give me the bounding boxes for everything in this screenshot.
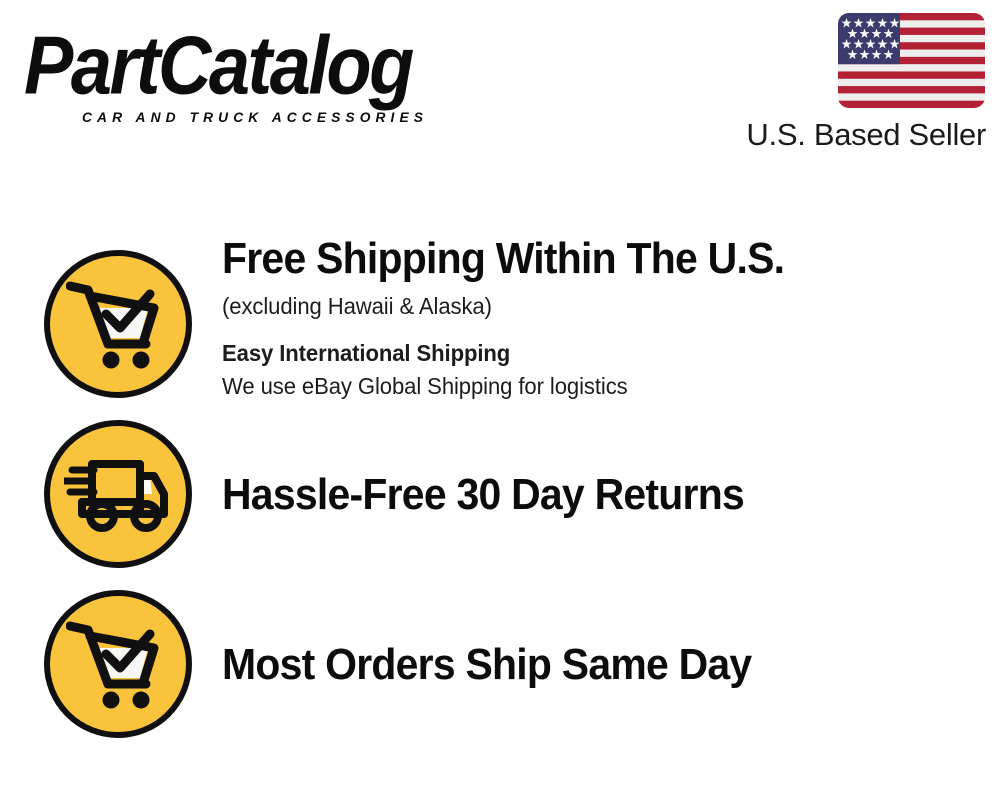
feature-subline-international-title: Easy International Shipping: [222, 338, 510, 369]
feature-subline-international-detail: We use eBay Global Shipping for logistic…: [222, 371, 628, 402]
feature-row-returns: Hassle-Free 30 Day Returns: [0, 420, 1000, 570]
feature-subline-exclusions: (excluding Hawaii & Alaska): [222, 291, 492, 322]
feature-headline: Hassle-Free 30 Day Returns: [222, 470, 744, 520]
shopping-cart-check-icon: [44, 590, 192, 738]
feature-row-same-day-shipping: Most Orders Ship Same Day: [0, 590, 1000, 740]
delivery-truck-icon: [44, 420, 192, 568]
feature-list: Free Shipping Within The U.S. (excluding…: [0, 0, 1000, 800]
feature-row-free-shipping: Free Shipping Within The U.S. (excluding…: [0, 250, 1000, 400]
shopping-cart-check-icon: [44, 250, 192, 398]
feature-headline: Most Orders Ship Same Day: [222, 640, 751, 690]
feature-headline: Free Shipping Within The U.S.: [222, 234, 784, 284]
